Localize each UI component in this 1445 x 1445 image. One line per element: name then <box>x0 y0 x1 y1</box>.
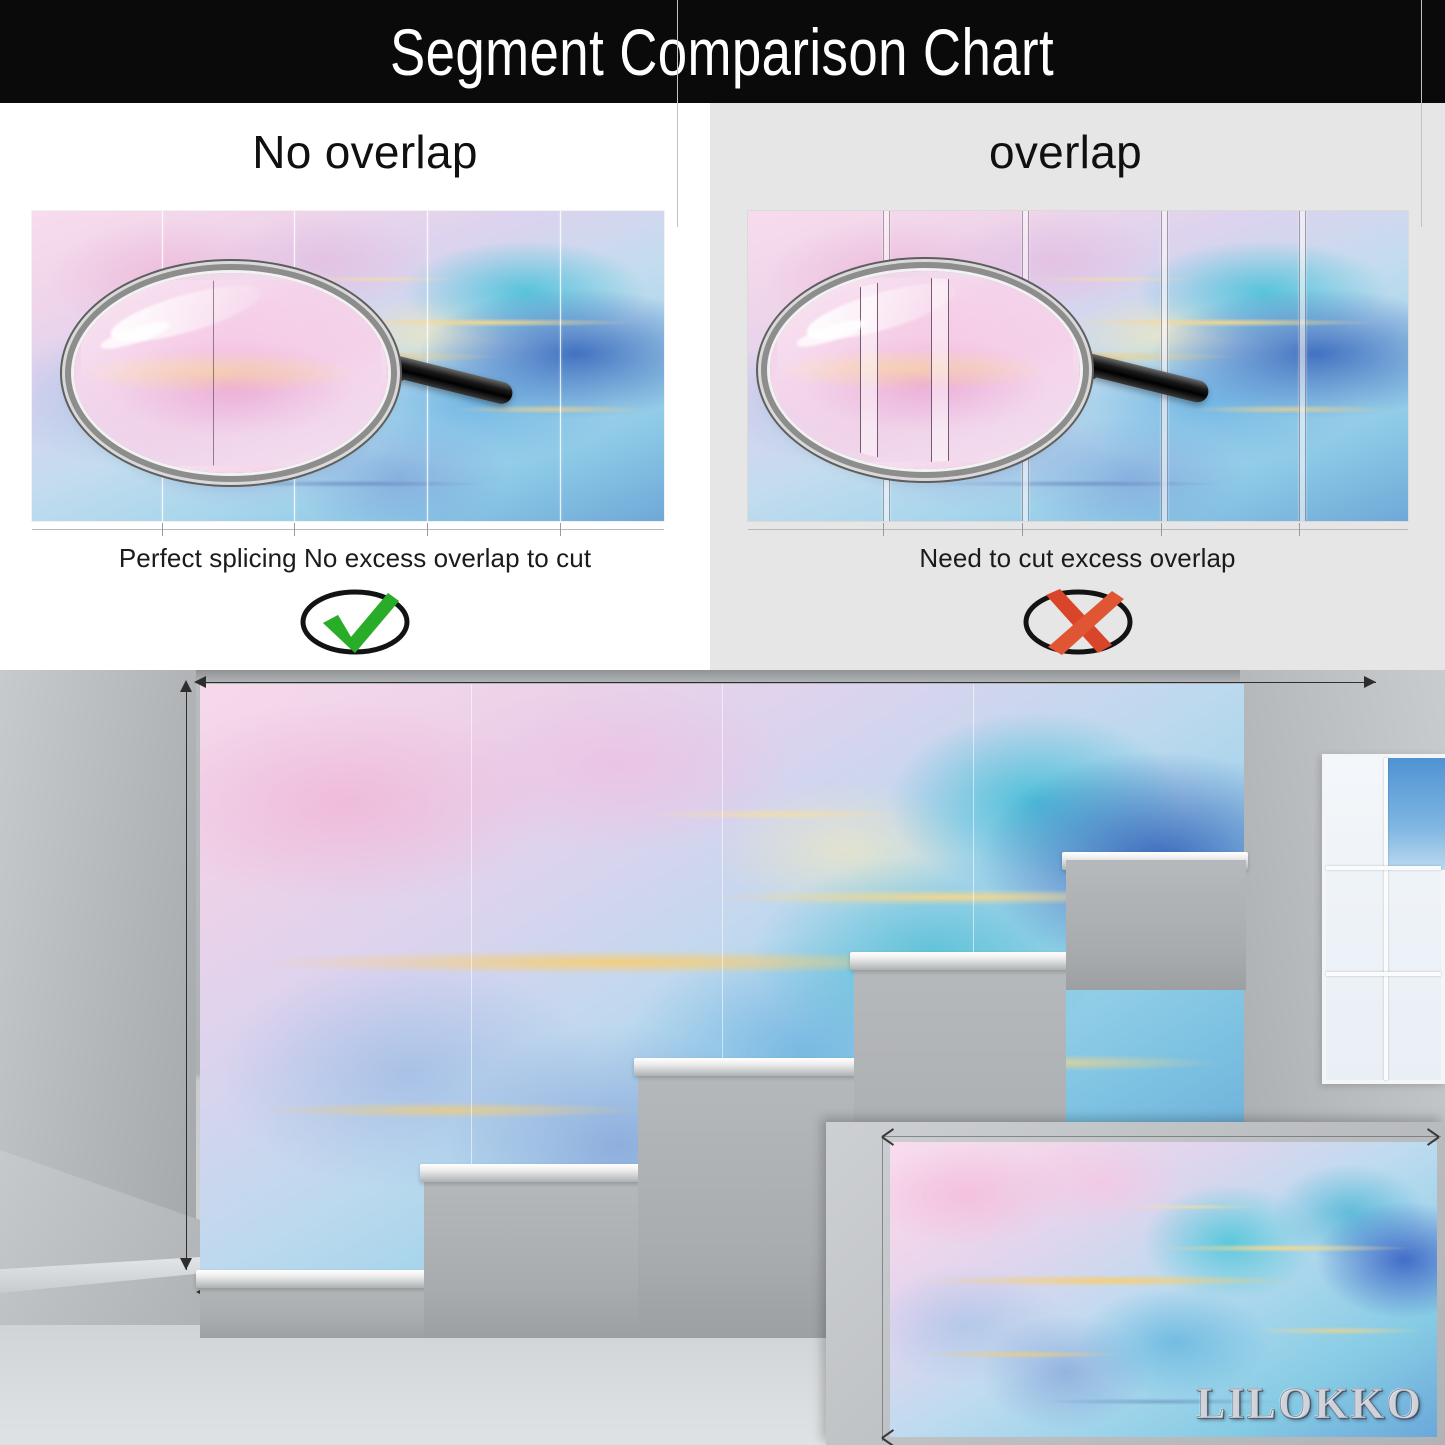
verdict-mark-negative <box>710 585 1445 659</box>
ruler-end-bar <box>677 0 678 227</box>
title-banner: Segment Comparison Chart <box>0 0 1445 103</box>
overlap-seam-line <box>1161 211 1168 521</box>
ruler-tick <box>1022 523 1023 536</box>
stair-step <box>1066 860 1246 990</box>
watermark-inset: LILOKKO <box>1196 1378 1423 1429</box>
ruler-tick <box>427 523 428 536</box>
stair-nosing <box>634 1058 860 1076</box>
stair-nosing <box>196 1270 430 1288</box>
dimension-width-line-top <box>196 682 1376 683</box>
red-cross-icon <box>1016 585 1140 659</box>
panel-heading-no-overlap: No overlap <box>10 125 720 179</box>
stair-nosing <box>420 1164 644 1182</box>
ruler-end-bar <box>1421 0 1422 227</box>
dimension-arrow-left-top <box>194 676 206 688</box>
corner-marker <box>882 1136 898 1152</box>
ruler-tick <box>294 523 295 536</box>
ruler-tick <box>560 523 561 536</box>
inset-frame-line <box>882 1136 883 1441</box>
ruler-line <box>32 529 664 530</box>
magnified-overlap-seam <box>931 278 949 462</box>
swatch-wrap-overlap <box>748 211 1408 521</box>
mural-swatch-overlap <box>748 211 1408 521</box>
corner-marker <box>1423 1136 1439 1152</box>
ruler-tick <box>883 523 884 536</box>
comparison-panel-overlap: overlap <box>710 103 1445 670</box>
magnifier-overlap <box>770 271 1080 469</box>
ruler-line <box>748 529 1408 530</box>
window-mullion-horizontal <box>1326 866 1441 870</box>
ruler-tick <box>1161 523 1162 536</box>
window-sky-pane <box>1388 758 1445 870</box>
inset-preview-panel[interactable]: LILOKKO <box>826 1122 1445 1445</box>
window <box>1322 754 1445 1084</box>
magnified-overlap-seam <box>860 278 878 462</box>
ruler-tick <box>1299 523 1300 536</box>
magnifier-lens <box>74 273 388 473</box>
measure-ruler-overlap <box>748 521 1408 537</box>
dimension-arrow-right-top <box>1364 676 1376 688</box>
window-mullion-horizontal <box>1326 972 1441 976</box>
dimension-height-line <box>186 682 187 1270</box>
panel-heading-overlap: overlap <box>698 125 1433 179</box>
comparison-panel-no-overlap: No overlap <box>0 103 710 670</box>
panel-caption-overlap: Need to cut excess overlap <box>710 543 1445 574</box>
window-mullion-vertical <box>1384 758 1388 1080</box>
inset-mural-image: LILOKKO <box>890 1142 1437 1437</box>
measure-ruler-no-overlap <box>32 521 664 537</box>
stair-step <box>424 1172 640 1338</box>
page-title: Segment Comparison Chart <box>390 19 1054 85</box>
overlap-seam-line <box>1299 211 1306 521</box>
stair-step <box>638 1066 856 1338</box>
inset-frame-line <box>882 1136 1441 1137</box>
seam-line <box>560 211 561 521</box>
mural-swatch-no-overlap <box>32 211 664 521</box>
magnifier-no-overlap <box>74 273 388 473</box>
room-scene: LILOKKO LILOKKO <box>0 670 1445 1445</box>
corner-marker <box>882 1423 898 1439</box>
panel-caption-no-overlap: Perfect splicing No excess overlap to cu… <box>0 543 710 574</box>
magnifier-lens <box>770 271 1080 469</box>
magnified-seam-line <box>213 280 214 466</box>
dimension-arrow-down <box>180 1258 192 1270</box>
verdict-mark-positive <box>0 585 710 659</box>
ruler-tick <box>162 523 163 536</box>
green-check-icon <box>293 585 417 659</box>
dimension-arrow-up <box>180 680 192 692</box>
swatch-wrap-no-overlap <box>32 211 664 521</box>
stair-nosing <box>850 952 1070 970</box>
comparison-row: No overlap <box>0 103 1445 670</box>
